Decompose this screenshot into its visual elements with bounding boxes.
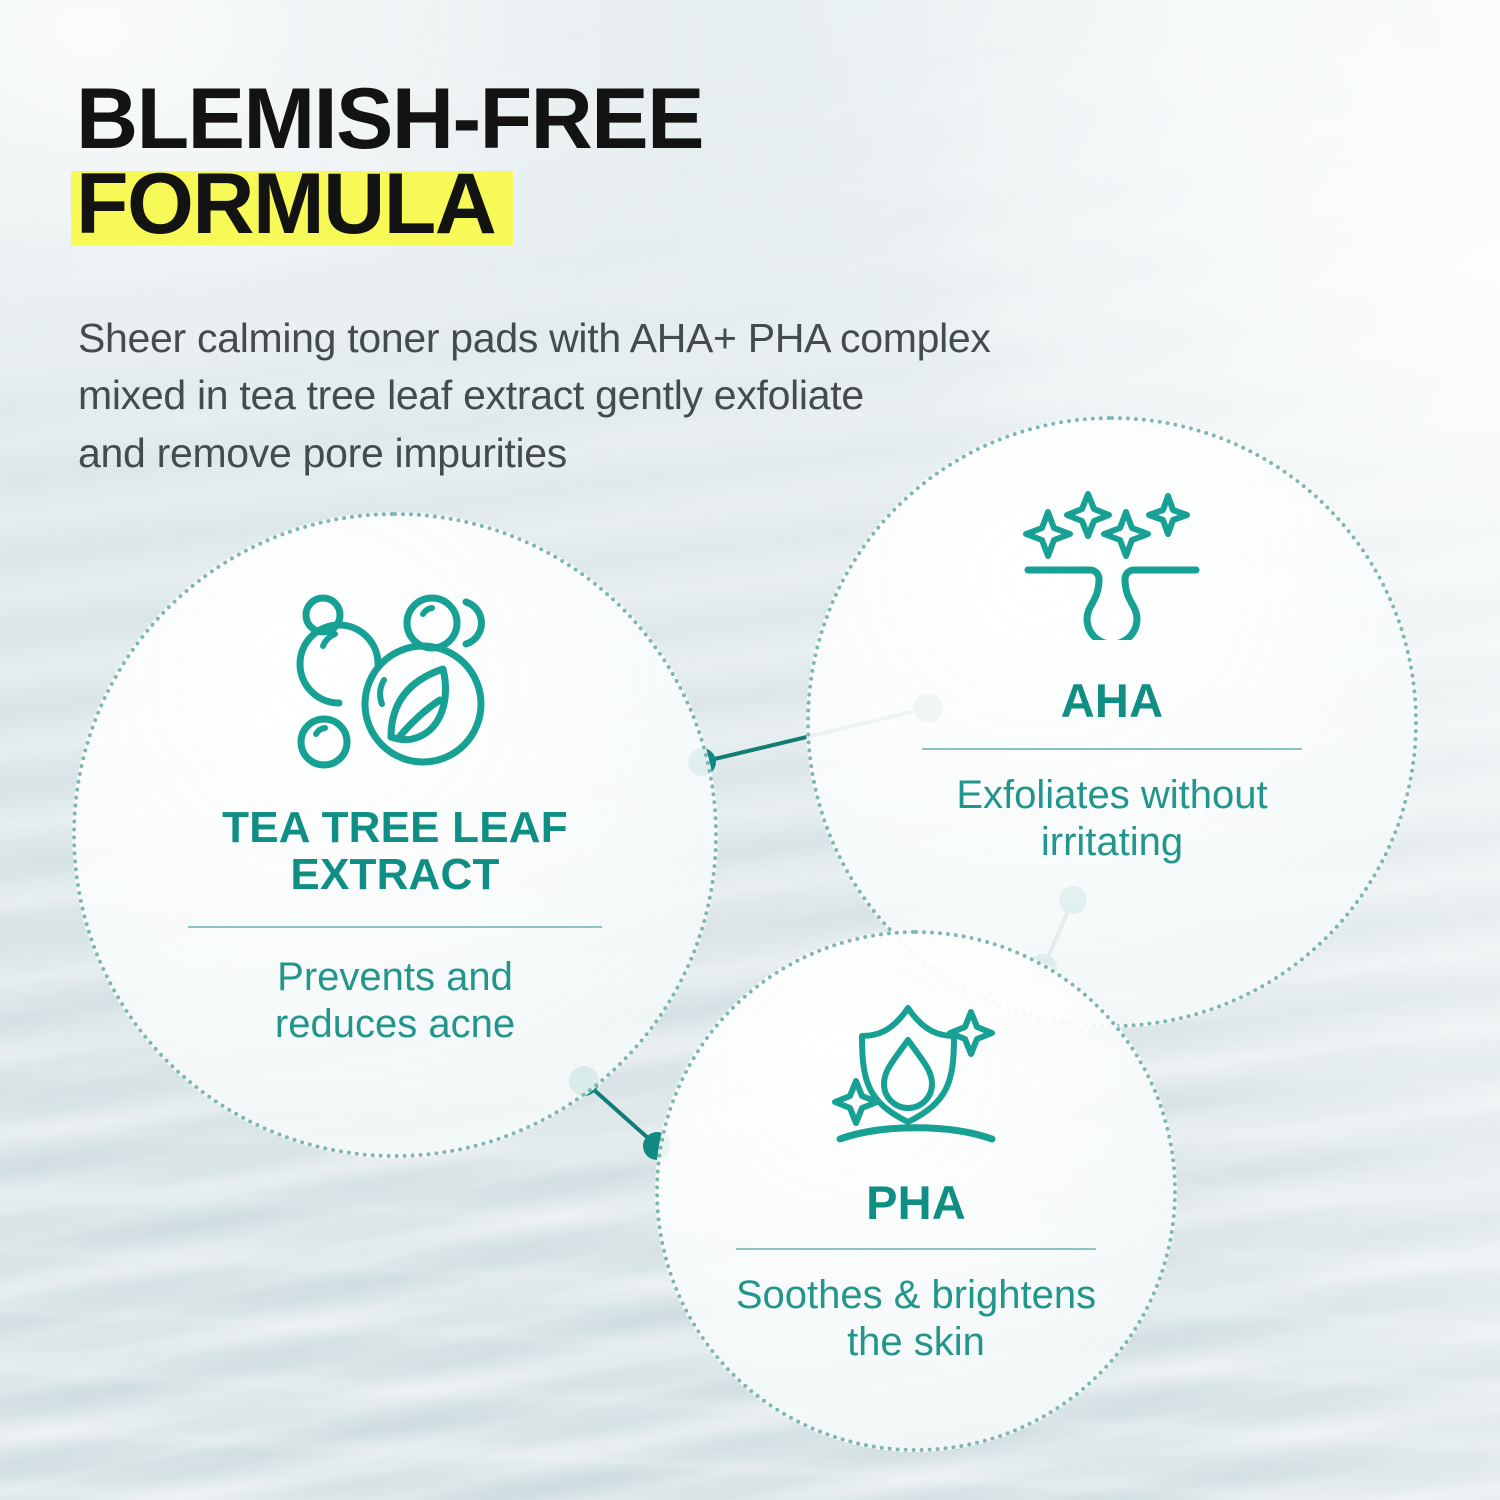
feature-circle-pha[interactable]: PHA Soothes & brightens the skin xyxy=(655,930,1177,1452)
feature-circle-tea-tree-leaf-extract[interactable]: TEA TREE LEAF EXTRACT Prevents and reduc… xyxy=(72,512,718,1158)
feature-title: TEA TREE LEAF EXTRACT xyxy=(222,805,568,898)
page-title-line2: FORMULA xyxy=(76,156,495,252)
infographic-canvas: BLEMISH-FREEFORMULA Sheer calming toner … xyxy=(0,0,1500,1500)
shield-droplet-sparkle-icon xyxy=(832,998,1000,1150)
divider xyxy=(188,926,602,928)
feature-description: Exfoliates without irritating xyxy=(956,772,1267,866)
divider xyxy=(922,748,1302,750)
feature-description: Soothes & brightens the skin xyxy=(736,1272,1096,1366)
divider xyxy=(736,1248,1096,1250)
feature-title: PHA xyxy=(866,1178,966,1228)
pore-sparkle-icon xyxy=(1022,490,1202,640)
feature-description: Prevents and reduces acne xyxy=(275,954,515,1048)
page-title-line2-wrap: FORMULA xyxy=(76,163,495,246)
bubbles-leaf-icon xyxy=(290,590,500,775)
feature-title: AHA xyxy=(1061,676,1163,726)
